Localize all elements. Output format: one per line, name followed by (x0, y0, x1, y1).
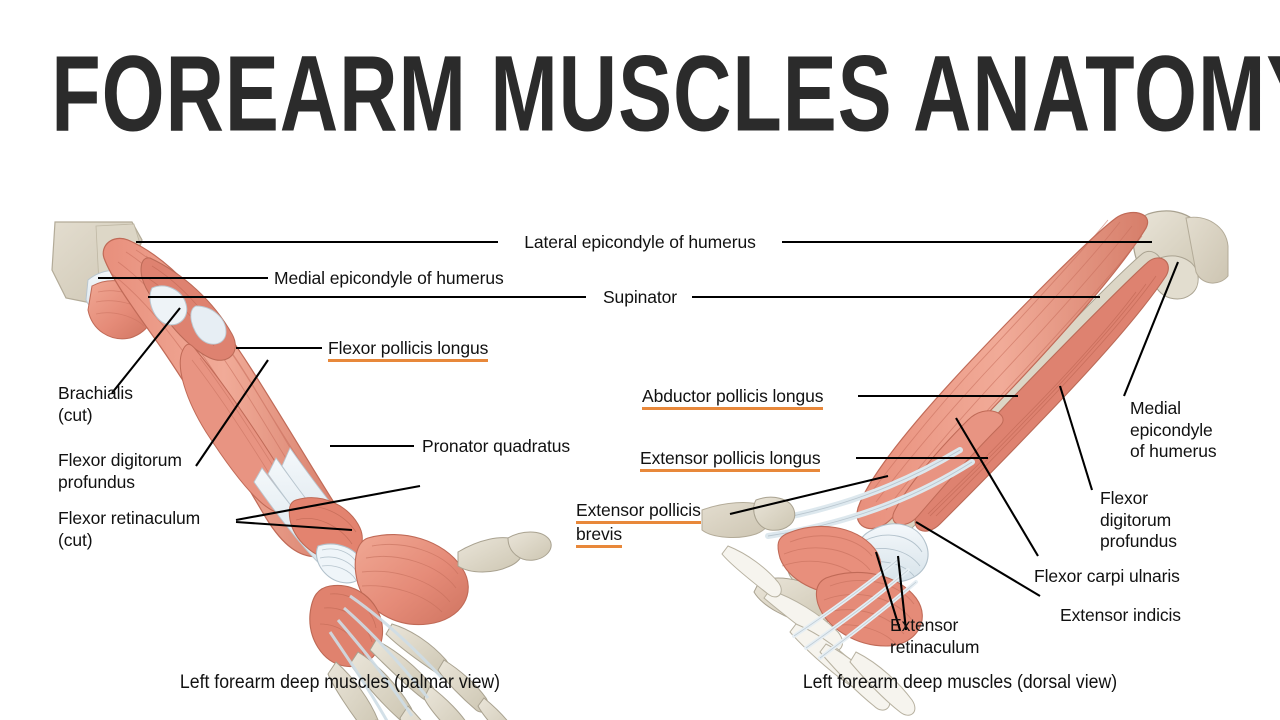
label-brachialis-cut: Brachialis(cut) (58, 383, 133, 426)
label-extensor-pollicis-longus: Extensor pollicis longus (640, 448, 820, 472)
label-fdp-dorsal-line3: profundus (1100, 531, 1177, 551)
leader-fdp-dorsal (1060, 386, 1092, 490)
page-title: FOREARM MUSCLES ANATOMY (51, 38, 1229, 150)
label-medial-epicondyle-of-humerus: Medial epicondyle of humerus (274, 268, 504, 290)
label-extensor-retinaculum-line2: retinaculum (890, 637, 979, 657)
label-abductor-pollicis-longus-text: Abductor pollicis longus (642, 387, 823, 410)
label-extensor-pollicis-longus-text: Extensor pollicis longus (640, 449, 820, 472)
label-flexor-retinaculum-cut: Flexor retinaculum(cut) (58, 508, 200, 551)
label-fdp-dorsal-line1: Flexor (1100, 488, 1148, 508)
label-flexor-pollicis-longus: Flexor pollicis longus (328, 338, 488, 362)
label-flexor-digitorum-profundus: Flexor digitorumprofundus (58, 450, 182, 493)
anatomy-figure-stage: Lateral epicondyle of humerus Supinator … (0, 200, 1280, 720)
label-supinator: Supinator (588, 287, 692, 309)
label-flexor-digitorum-profundus-line1: Flexor digitorum (58, 450, 182, 470)
label-lateral-epicondyle-of-humerus: Lateral epicondyle of humerus (500, 232, 780, 254)
label-flexor-retinaculum-cut-line2: (cut) (58, 530, 93, 550)
label-extensor-pollicis-brevis: Extensor pollicisbrevis (576, 500, 701, 548)
label-flexor-digitorum-profundus-dorsal: Flexordigitorumprofundus (1100, 488, 1177, 553)
label-flexor-digitorum-profundus-line2: profundus (58, 472, 135, 492)
caption-palmar-view: Left forearm deep muscles (palmar view) (108, 672, 573, 694)
label-medial-epicondyle-dorsal-line2: epicondyle (1130, 420, 1213, 440)
label-flexor-retinaculum-cut-line1: Flexor retinaculum (58, 508, 200, 528)
label-flexor-pollicis-longus-text: Flexor pollicis longus (328, 339, 488, 362)
label-extensor-retinaculum-line1: Extensor (890, 615, 958, 635)
label-pronator-quadratus: Pronator quadratus (422, 436, 570, 458)
anatomy-poster: FOREARM MUSCLES ANATOMY (0, 0, 1280, 720)
label-medial-epicondyle-of-humerus-dorsal: Medialepicondyleof humerus (1130, 398, 1217, 463)
label-extensor-indicis: Extensor indicis (1060, 605, 1181, 627)
label-medial-epicondyle-dorsal-line1: Medial (1130, 398, 1181, 418)
label-brachialis-cut-line2: (cut) (58, 405, 93, 425)
label-abductor-pollicis-longus: Abductor pollicis longus (642, 386, 823, 410)
label-medial-epicondyle-dorsal-line3: of humerus (1130, 441, 1217, 461)
label-extensor-retinaculum: Extensorretinaculum (890, 615, 979, 658)
label-extensor-pollicis-brevis-line1: Extensor pollicis (576, 501, 701, 524)
label-fdp-dorsal-line2: digitorum (1100, 510, 1171, 530)
leader-extensor-indicis (916, 522, 1040, 596)
label-extensor-pollicis-brevis-line2: brevis (576, 525, 622, 548)
caption-dorsal-view: Left forearm deep muscles (dorsal view) (728, 672, 1193, 694)
label-brachialis-cut-line1: Brachialis (58, 383, 133, 403)
label-flexor-carpi-ulnaris: Flexor carpi ulnaris (1034, 566, 1180, 588)
